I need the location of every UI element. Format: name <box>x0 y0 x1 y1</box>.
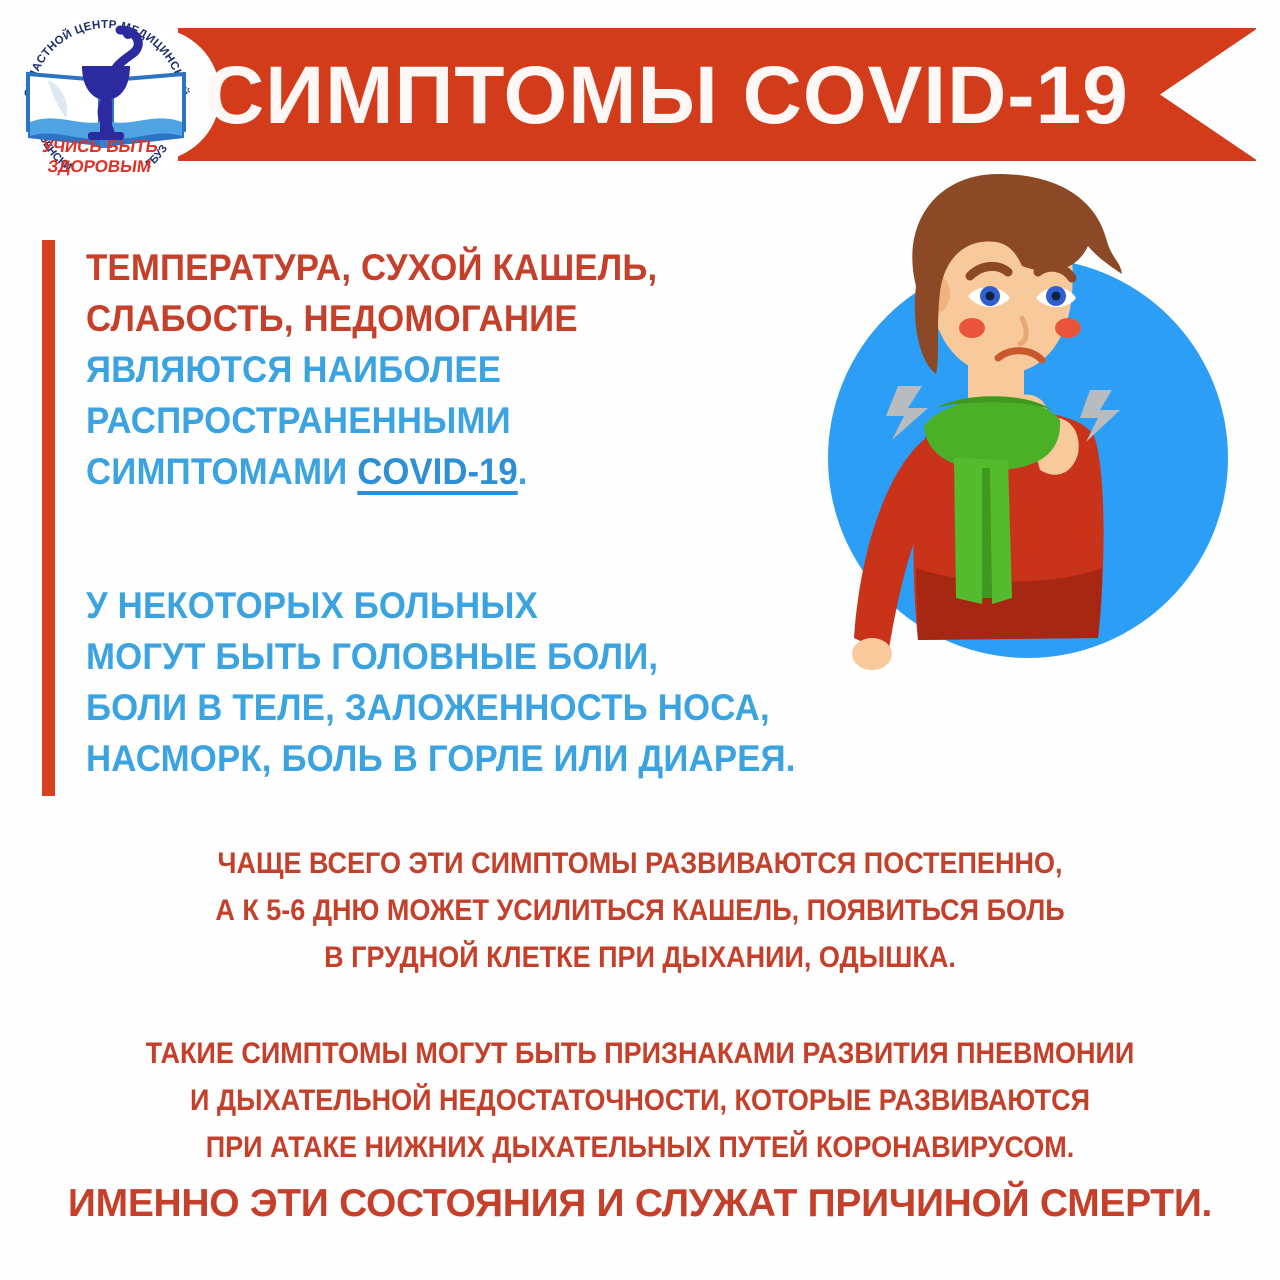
text-line: НАСМОРК, БОЛЬ В ГОРЛЕ ИЛИ ДИАРЕЯ. <box>86 733 913 784</box>
page-title: СИМПТОМЫ COVID-19 <box>205 33 1225 158</box>
text-line: БОЛИ В ТЕЛЕ, ЗАЛОЖЕННОСТЬ НОСА, <box>86 682 913 733</box>
text-line: ЯВЛЯЮТСЯ НАИБОЛЕЕ <box>86 344 744 395</box>
text-line-emphasis: ИМЕННО ЭТИ СОСТОЯНИЯ И СЛУЖАТ ПРИЧИНОЙ С… <box>0 1180 1280 1227</box>
organization-logo: ОБЛАСТНОЙ ЦЕНТР МЕДИЦИНСКОЙ ПРОФИЛАКТИКИ… <box>8 6 204 184</box>
text-line: В ГРУДНОЙ КЛЕТКЕ ПРИ ДЫХАНИИ, ОДЫШКА. <box>64 934 1216 981</box>
text-line: ТЕМПЕРАТУРА, СУХОЙ КАШЕЛЬ, <box>86 242 744 293</box>
text-line: А К 5-6 ДНЮ МОЖЕТ УСИЛИТЬСЯ КАШЕЛЬ, ПОЯВ… <box>64 887 1216 934</box>
header: СИМПТОМЫ COVID-19 ОБЛАСТНОЙ ЦЕНТР МЕДИЦИ… <box>0 0 1280 190</box>
text-line: ЧАЩЕ ВСЕГО ЭТИ СИМПТОМЫ РАЗВИВАЮТСЯ ПОСТ… <box>64 840 1216 887</box>
footer-block-complications: ТАКИЕ СИМПТОМЫ МОГУТ БЫТЬ ПРИЗНАКАМИ РАЗ… <box>0 1030 1280 1171</box>
text-line: МОГУТ БЫТЬ ГОЛОВНЫЕ БОЛИ, <box>86 631 913 682</box>
text-line: ТАКИЕ СИМПТОМЫ МОГУТ БЫТЬ ПРИЗНАКАМИ РАЗ… <box>64 1030 1216 1077</box>
text-line: У НЕКОТОРЫХ БОЛЬНЫХ <box>86 580 913 631</box>
text-line-with-term: СИМПТОМАМИ COVID-19. <box>86 446 744 497</box>
text-line: ПРИ АТАКЕ НИЖНИХ ДЫХАТЕЛЬНЫХ ПУТЕЙ КОРОН… <box>64 1124 1216 1171</box>
paragraph-other-symptoms: У НЕКОТОРЫХ БОЛЬНЫХ МОГУТ БЫТЬ ГОЛОВНЫЕ … <box>86 580 966 784</box>
text-line: СЛАБОСТЬ, НЕДОМОГАНИЕ <box>86 293 744 344</box>
line-suffix: . <box>518 451 528 492</box>
footer-block-conclusion: ИМЕННО ЭТИ СОСТОЯНИЯ И СЛУЖАТ ПРИЧИНОЙ С… <box>0 1180 1280 1227</box>
svg-text:УЧИСЬ БЫТЬ: УЧИСЬ БЫТЬ <box>41 137 159 156</box>
logo-motto: УЧИСЬ БЫТЬ ЗДОРОВЫМ <box>41 137 159 176</box>
svg-text:ЗДОРОВЫМ: ЗДОРОВЫМ <box>46 157 152 176</box>
paragraph-symptoms: ТЕМПЕРАТУРА, СУХОЙ КАШЕЛЬ, СЛАБОСТЬ, НЕД… <box>86 242 786 497</box>
text-line: И ДЫХАТЕЛЬНОЙ НЕДОСТАТОЧНОСТИ, КОТОРЫЕ Р… <box>64 1077 1216 1124</box>
poster-root: СИМПТОМЫ COVID-19 ОБЛАСТНОЙ ЦЕНТР МЕДИЦИ… <box>0 0 1280 1280</box>
line-prefix: СИМПТОМАМИ <box>86 451 357 492</box>
footer-block-progression: ЧАЩЕ ВСЕГО ЭТИ СИМПТОМЫ РАЗВИВАЮТСЯ ПОСТ… <box>0 840 1280 981</box>
covid-19-term: COVID-19 <box>357 451 517 492</box>
accent-bar <box>42 240 55 796</box>
cheek-flush <box>959 318 985 338</box>
text-line: РАСПРОСТРАНЕННЫМИ <box>86 395 744 446</box>
